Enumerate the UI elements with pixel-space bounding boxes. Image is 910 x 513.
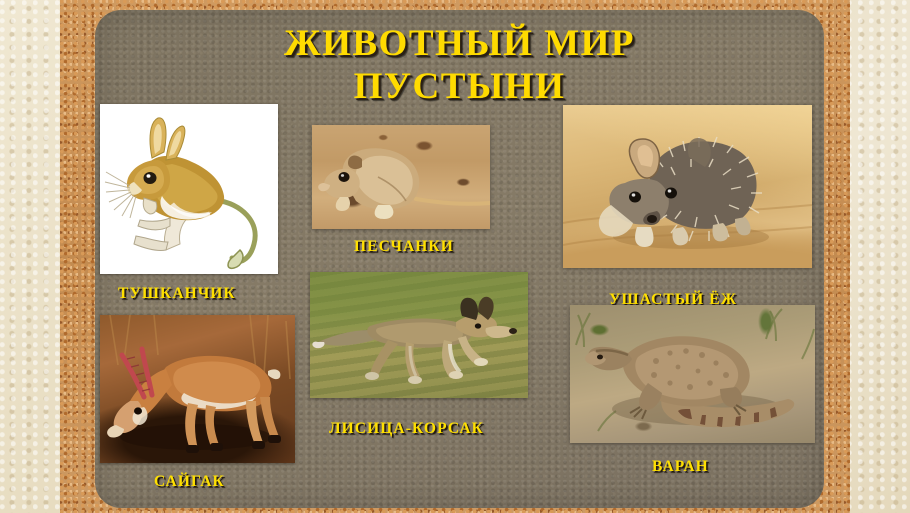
saiga-photo-subject <box>100 315 295 463</box>
varan-image <box>570 305 815 443</box>
caption-gerbil: ПЕСЧАНКИ <box>354 238 454 256</box>
page-title: ЖИВОТНЫЙ МИР ПУСТЫНИ <box>95 22 824 108</box>
animal-card-jerboa[interactable] <box>100 104 278 274</box>
animal-card-saiga[interactable] <box>100 315 295 463</box>
caption-fox: ЛИСИЦА-КОРСАК <box>329 420 484 438</box>
title-line-2: ПУСТЫНИ <box>95 65 824 108</box>
fox-image <box>310 272 528 398</box>
caption-saiga: САЙГАК <box>154 473 225 491</box>
fox-photo-subject <box>310 272 528 398</box>
animal-card-varan[interactable] <box>570 305 815 443</box>
caption-jerboa: ТУШКАНЧИК <box>118 285 236 303</box>
jerboa-illustration <box>100 104 278 274</box>
saiga-image <box>100 315 295 463</box>
gerbil-photo-subject <box>312 125 490 229</box>
jerboa-image <box>100 104 278 274</box>
hedgehog-image <box>563 105 812 268</box>
varan-photo-subject <box>570 305 815 443</box>
animal-card-gerbil[interactable] <box>312 125 490 229</box>
gerbil-image <box>312 125 490 229</box>
slide-panel: ЖИВОТНЫЙ МИР ПУСТЫНИ <box>95 10 824 508</box>
animal-card-hedgehog[interactable] <box>563 105 812 268</box>
slide-canvas: ЖИВОТНЫЙ МИР ПУСТЫНИ <box>0 0 910 513</box>
animal-card-fox[interactable] <box>310 272 528 398</box>
hedgehog-photo-subject <box>563 105 812 268</box>
caption-varan: ВАРАН <box>652 458 709 476</box>
title-line-1: ЖИВОТНЫЙ МИР <box>284 23 635 64</box>
